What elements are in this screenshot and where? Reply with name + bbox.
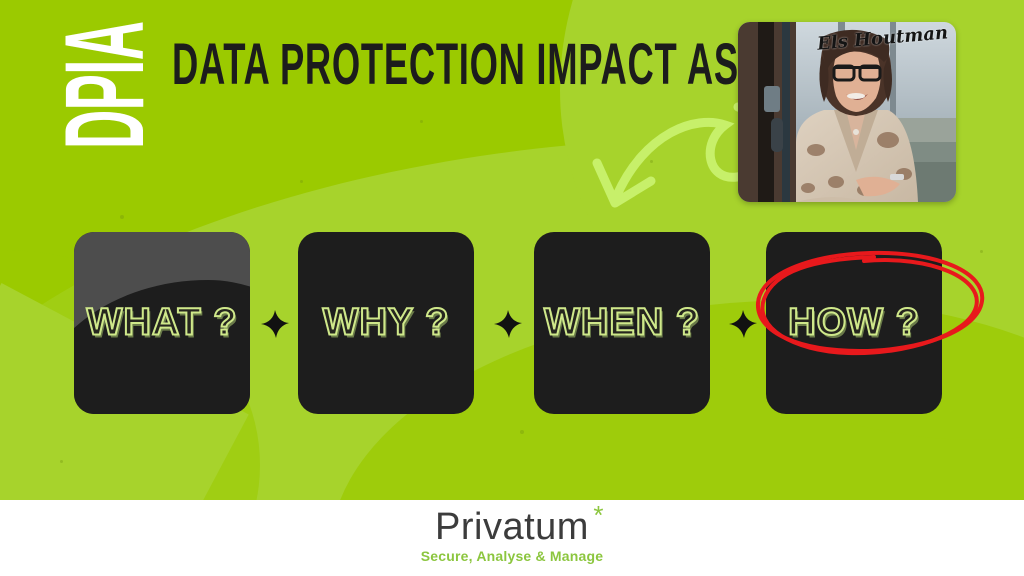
question-card-how-mark: ? (896, 302, 920, 344)
question-card-what-mark: ? (213, 302, 237, 344)
question-card-why-label: WHY ? (298, 302, 474, 345)
brand-logo: Privatum * Secure, Analyse & Manage (421, 508, 603, 564)
question-card-what[interactable]: WHAT ? (74, 232, 250, 414)
question-card-how[interactable]: HOW ? (766, 232, 942, 414)
question-card-why-text: WHY (323, 302, 414, 344)
plus-icon-3 (723, 304, 763, 344)
question-card-when-mark: ? (676, 302, 700, 344)
brand-tagline: Secure, Analyse & Manage (421, 548, 603, 564)
footer-bar: Privatum * Secure, Analyse & Manage (0, 500, 1024, 576)
question-card-why[interactable]: WHY ? (298, 232, 474, 414)
plus-icon-1 (255, 304, 295, 344)
question-card-what-label: WHAT ? (74, 302, 250, 345)
brand-name-text: Privatum (435, 506, 589, 548)
question-card-why-mark: ? (425, 302, 449, 344)
plus-icon-2 (488, 304, 528, 344)
question-card-row: WHAT ? WHY ? WHEN ? HOW (0, 232, 1024, 416)
question-card-when[interactable]: WHEN ? (534, 232, 710, 414)
brand-name: Privatum * (435, 508, 589, 546)
question-card-how-text: HOW (788, 302, 884, 344)
question-card-what-text: WHAT (87, 302, 202, 344)
slide-root: DPIA DATA PROTECTION IMPACT ASSESSMENT (0, 0, 1024, 576)
question-card-how-label: HOW ? (766, 302, 942, 345)
eyebrow-dpia: DPIA (39, 0, 172, 197)
portrait-photo: Els Houtman (738, 22, 956, 202)
asterisk-icon: * (593, 502, 604, 528)
eyebrow-dpia-label: DPIA (49, 21, 161, 148)
question-card-when-text: WHEN (544, 302, 664, 344)
question-card-when-label: WHEN ? (534, 302, 710, 345)
